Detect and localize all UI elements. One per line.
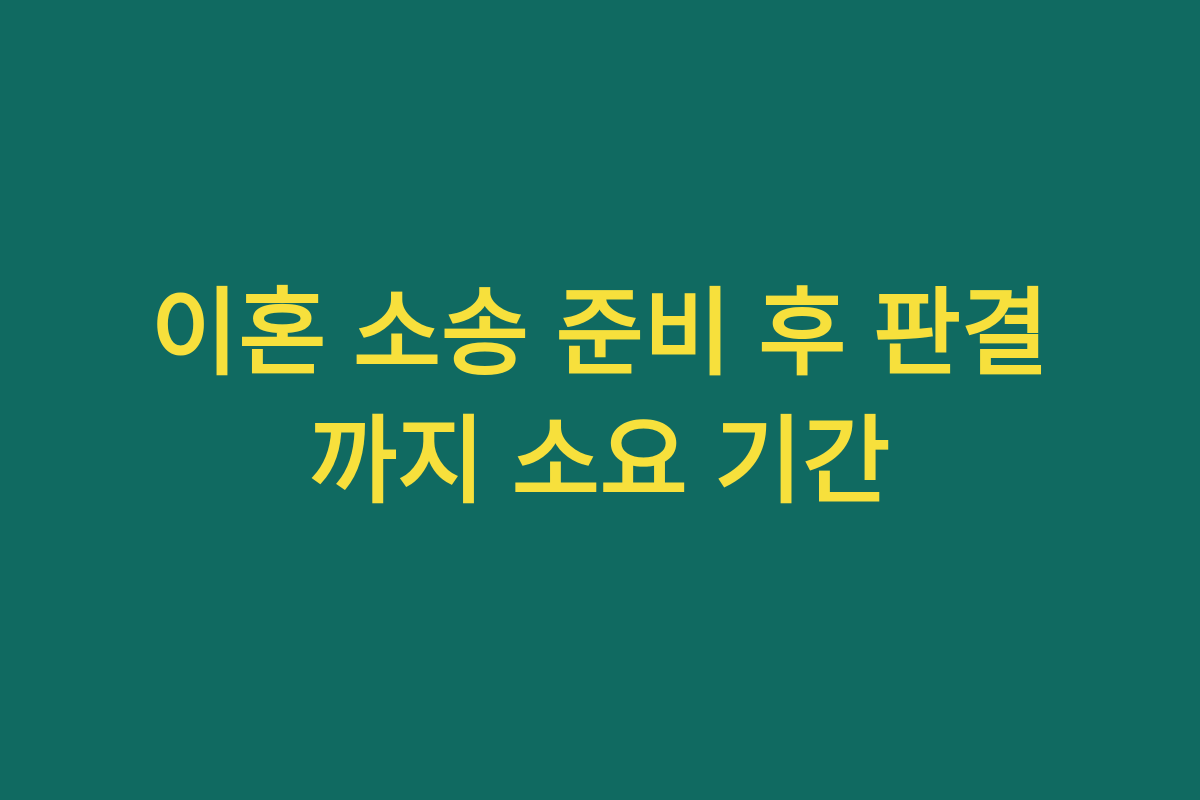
title-banner: 이혼 소송 준비 후 판결 까지 소요 기간 [0,0,1200,800]
page-title-line-2: 까지 소요 기간 [50,398,1150,526]
page-title-line-1: 이혼 소송 준비 후 판결 [50,270,1150,398]
page-title: 이혼 소송 준비 후 판결 까지 소요 기간 [50,270,1150,527]
